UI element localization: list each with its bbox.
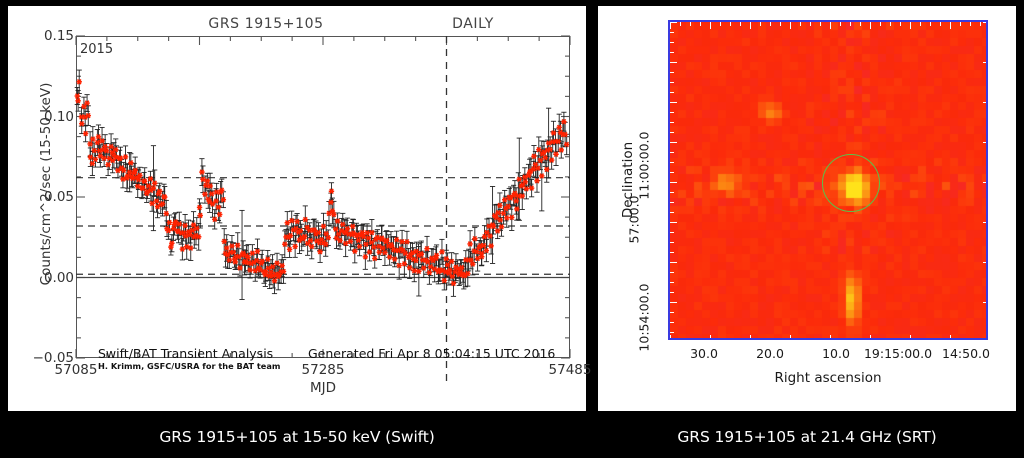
radio-map-tick <box>670 292 674 293</box>
radio-map-tick <box>810 22 811 26</box>
radio-map-tick <box>860 22 861 26</box>
lightcurve-generated-note: Generated Fri Apr 8 05:04:15 UTC 2016 <box>308 346 555 361</box>
radio-map-tick <box>670 142 677 143</box>
radio-map-tick <box>670 222 677 223</box>
lightcurve-analysis-note: Swift/BAT Transient Analysis <box>98 346 273 361</box>
radio-map-tick <box>986 152 988 153</box>
radio-map-tick <box>670 62 677 63</box>
radio-map-tick <box>980 22 981 26</box>
swift-lightcurve-panel: GRS 1915+105 DAILY 2015 −0.050.000.050.1… <box>8 6 586 411</box>
radio-map-tick <box>850 22 851 26</box>
radio-map-tick <box>986 332 988 333</box>
radio-map-y-tick-label: 10:54:00.0 <box>637 284 652 352</box>
source-marker-circle <box>822 154 880 212</box>
radio-map-tick <box>970 22 971 26</box>
radio-map-tick <box>670 332 674 333</box>
radio-map-tick <box>670 172 674 173</box>
radio-map-tick <box>790 22 791 29</box>
radio-map-tick <box>986 92 988 93</box>
radio-map-tick <box>670 252 674 253</box>
radio-map-tick <box>930 22 931 26</box>
radio-map-tick <box>900 338 901 340</box>
radio-map-tick <box>986 212 988 213</box>
radio-map-tick <box>670 152 674 153</box>
radio-map-tick <box>670 72 674 73</box>
radio-map-tick <box>920 338 921 340</box>
radio-map-tick <box>983 302 988 303</box>
radio-map-tick <box>983 182 988 183</box>
radio-map-tick <box>983 22 988 23</box>
radio-map-tick <box>986 122 988 123</box>
radio-map-tick <box>770 338 771 340</box>
radio-map-tick <box>986 112 988 113</box>
radio-map-tick <box>986 72 988 73</box>
radio-map-y-tick-label: 11:00:00.0 <box>637 132 652 200</box>
radio-map-tick <box>710 335 711 340</box>
radio-map-tick <box>983 222 988 223</box>
radio-map-tick <box>986 272 988 273</box>
radio-map-tick <box>670 202 674 203</box>
radio-map-tick <box>983 62 988 63</box>
radio-map-tick <box>890 22 891 26</box>
radio-map-tick <box>986 132 988 133</box>
radio-map-tick <box>960 338 961 340</box>
radio-map-tick <box>690 22 691 26</box>
radio-map-tick <box>986 42 988 43</box>
radio-map-tick <box>986 242 988 243</box>
radio-map-tick <box>670 92 674 93</box>
radio-map-tick <box>986 162 988 163</box>
radio-map-x-tick-label: 30.0 <box>690 346 718 361</box>
radio-map-tick <box>670 112 674 113</box>
radio-map-tick <box>670 232 674 233</box>
radio-map-tick <box>670 102 677 103</box>
radio-map-tick <box>750 22 751 29</box>
lightcurve-plot: GRS 1915+105 DAILY 2015 −0.050.000.050.1… <box>8 6 586 411</box>
radio-map-tick <box>820 22 821 26</box>
radio-map-tick <box>670 182 677 183</box>
radio-map-tick <box>800 22 801 26</box>
radio-map-tick <box>780 338 781 340</box>
radio-map-tick <box>740 22 741 26</box>
radio-map-tick <box>670 192 674 193</box>
radio-map-tick <box>950 22 951 29</box>
radio-map-tick <box>986 82 988 83</box>
radio-map-tick <box>986 292 988 293</box>
radio-map-tick <box>950 335 951 340</box>
radio-map-tick <box>670 42 674 43</box>
radio-map-tick <box>670 122 674 123</box>
radio-map-tick <box>670 52 674 53</box>
radio-map-tick <box>940 22 941 26</box>
radio-map-y-axis-label: Declination <box>620 60 636 300</box>
radio-map-tick <box>910 335 911 340</box>
radio-map-tick <box>670 282 674 283</box>
radio-map-tick <box>670 272 674 273</box>
radio-map-tick <box>986 282 988 283</box>
radio-map-tick <box>983 142 988 143</box>
radio-map-tick <box>986 322 988 323</box>
lightcurve-credit-note: H. Krimm, GSFC/USRA for the BAT team <box>98 361 280 371</box>
radio-map-tick <box>800 338 801 340</box>
radio-map-tick <box>960 22 961 26</box>
radio-map-tick <box>830 335 831 340</box>
radio-map-tick <box>830 22 831 29</box>
radio-map-x-axis-label: Right ascension <box>668 370 988 386</box>
radio-map-tick <box>670 32 674 33</box>
radio-map-tick <box>986 202 988 203</box>
radio-map-tick <box>670 302 677 303</box>
radio-map-tick <box>986 312 988 313</box>
radio-map-tick <box>983 102 988 103</box>
lightcurve-x-tick-label: 57085 <box>55 362 98 378</box>
radio-map-tick <box>720 338 721 340</box>
radio-map-tick <box>670 262 677 263</box>
radio-map-tick <box>670 312 674 313</box>
radio-map-tick <box>986 232 988 233</box>
radio-map-tick <box>730 338 731 340</box>
radio-map-tick <box>680 22 681 26</box>
caption-srt-panel: GRS 1915+105 at 21.4 GHz (SRT) <box>598 420 1016 454</box>
lightcurve-y-tick-label: 0.15 <box>28 28 74 44</box>
radio-map-tick <box>840 338 841 340</box>
radio-map-tick <box>760 22 761 26</box>
radio-map-tick <box>670 82 674 83</box>
radio-map-tick <box>690 338 691 340</box>
radio-map-tick <box>780 22 781 26</box>
radio-map-tick <box>980 338 981 340</box>
radio-map-tick <box>670 162 674 163</box>
lightcurve-x-tick-label: 57285 <box>302 362 345 378</box>
radio-map-tick <box>730 22 731 26</box>
lightcurve-y-axis-label: Counts/cm^2/sec (15-50 keV) <box>38 54 54 314</box>
radio-map-tick <box>986 192 988 193</box>
radio-map-tick <box>986 52 988 53</box>
radio-map-image <box>668 20 988 340</box>
radio-map-tick <box>680 338 681 340</box>
lightcurve-x-axis-label: MJD <box>76 380 570 396</box>
radio-map-tick <box>670 242 674 243</box>
radio-map-tick <box>670 322 674 323</box>
radio-map-tick <box>760 338 761 340</box>
radio-map-tick <box>750 335 751 340</box>
radio-map-x-tick-label: 19:15:00.0 <box>864 346 932 361</box>
radio-map-tick <box>740 338 741 340</box>
radio-map-tick <box>930 338 931 340</box>
radio-map-tick <box>940 338 941 340</box>
radio-map-tick <box>860 338 861 340</box>
radio-map-tick <box>920 22 921 26</box>
radio-map-tick <box>986 172 988 173</box>
radio-map-x-tick-label: 14:50.0 <box>942 346 990 361</box>
radio-map-tick <box>970 338 971 340</box>
radio-map-tick <box>700 338 701 340</box>
radio-map-tick <box>820 338 821 340</box>
radio-map-tick <box>850 338 851 340</box>
radio-map-tick <box>670 132 674 133</box>
radio-map-tick <box>700 22 701 26</box>
radio-map-tick <box>770 22 771 26</box>
caption-swift-panel: GRS 1915+105 at 15-50 keV (Swift) <box>8 420 586 454</box>
radio-map-tick <box>810 338 811 340</box>
radio-map-x-tick-label: 10.0 <box>822 346 850 361</box>
radio-map-tick <box>670 212 674 213</box>
radio-map-tick <box>983 262 988 263</box>
radio-map-tick <box>710 22 711 29</box>
radio-map-plot: 11:00:00.057:00.010:54:00.0 30.020.010.0… <box>598 6 1016 411</box>
radio-map-tick <box>986 252 988 253</box>
lightcurve-x-tick-label: 57485 <box>549 362 592 378</box>
srt-radio-map-panel: 11:00:00.057:00.010:54:00.0 30.020.010.0… <box>598 6 1016 411</box>
radio-map-tick <box>670 22 677 23</box>
radio-map-tick <box>720 22 721 26</box>
radio-map-tick <box>840 22 841 26</box>
radio-map-tick <box>880 22 881 26</box>
radio-map-tick <box>870 22 871 29</box>
radio-map-tick <box>670 335 671 340</box>
radio-map-x-tick-label: 20.0 <box>756 346 784 361</box>
radio-map-tick <box>890 338 891 340</box>
radio-map-tick <box>910 22 911 29</box>
radio-map-tick <box>986 32 988 33</box>
radio-map-tick <box>870 335 871 340</box>
radio-map-tick <box>880 338 881 340</box>
radio-map-tick <box>900 22 901 26</box>
figure-root: GRS 1915+105 DAILY 2015 −0.050.000.050.1… <box>0 0 1024 458</box>
radio-map-tick <box>790 335 791 340</box>
